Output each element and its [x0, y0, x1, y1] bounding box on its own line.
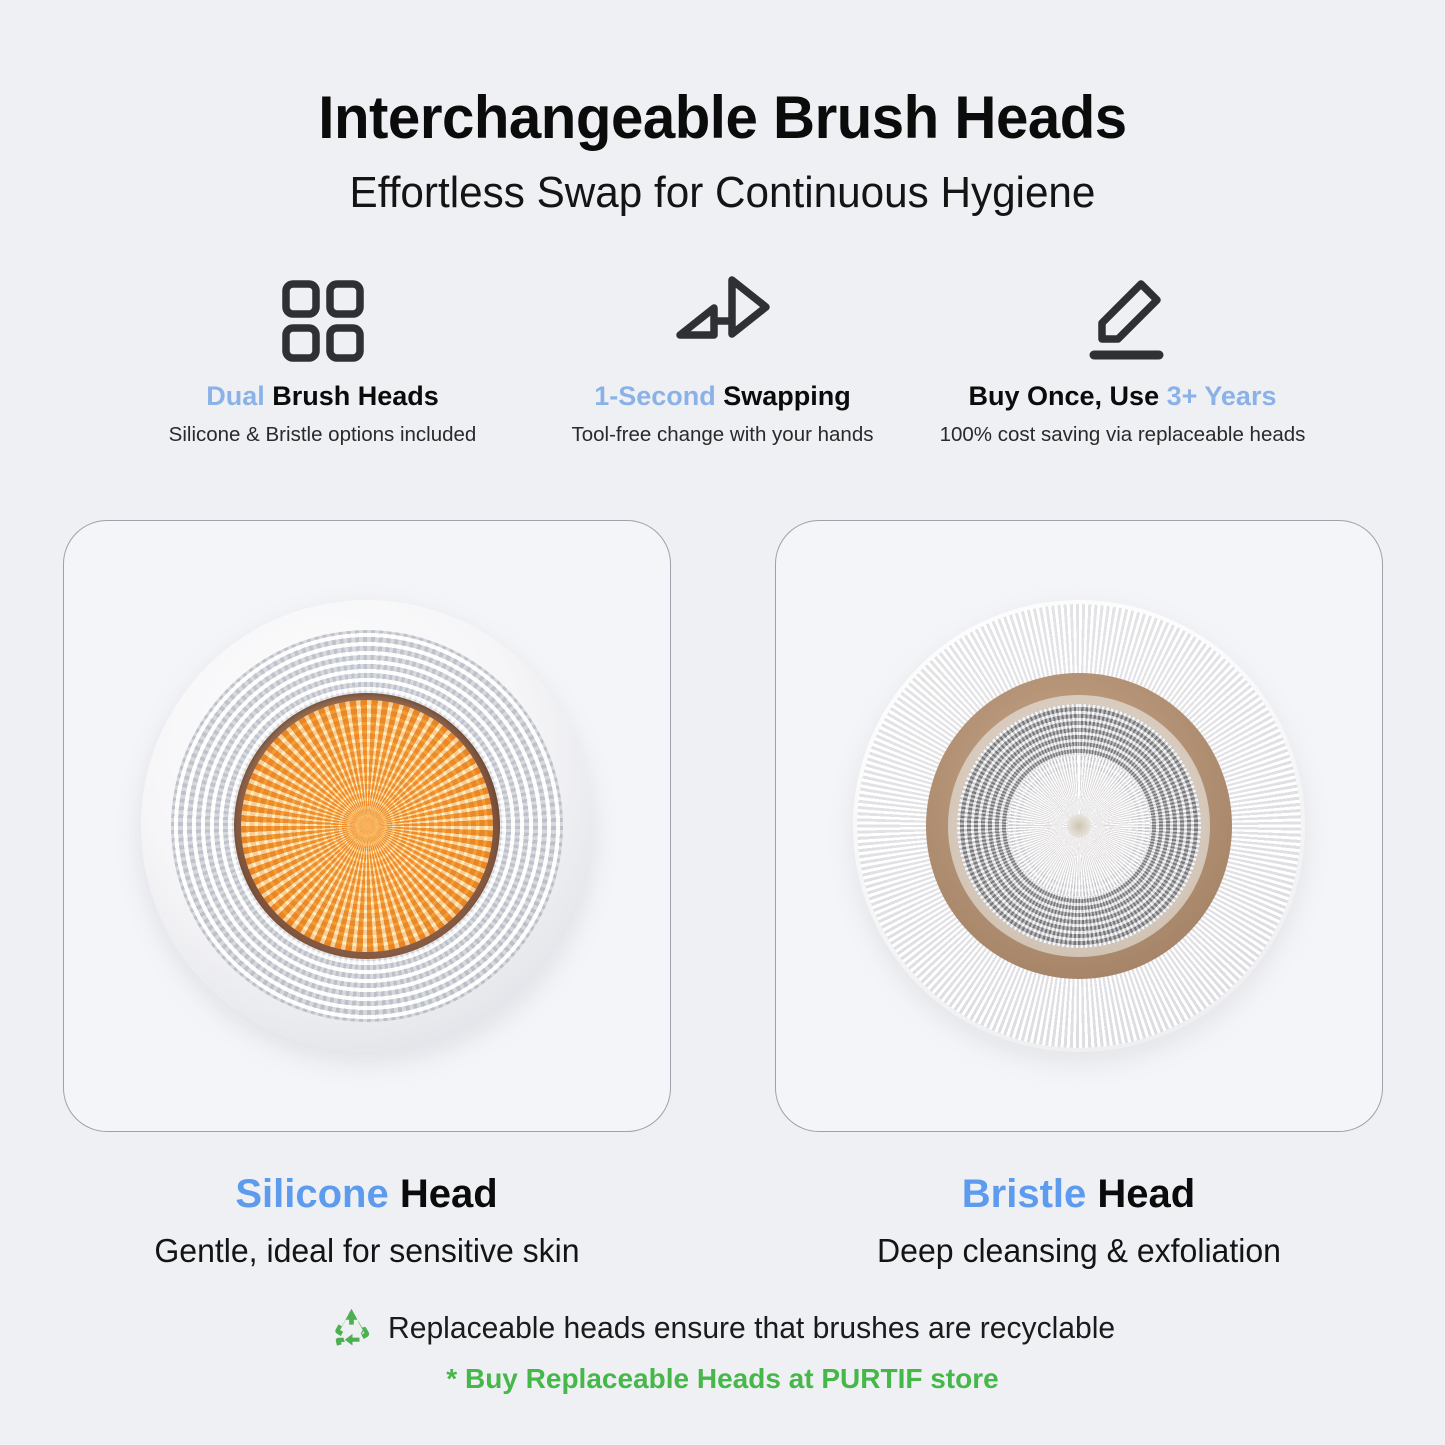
recycle-note-text: Replaceable heads ensure that brushes ar… [388, 1311, 1115, 1345]
silicone-inner-disc [241, 700, 493, 952]
feature-title: Dual Brush Heads [131, 381, 515, 412]
feature-buy-once-use-years: Buy Once, Use 3+ Years 100% cost saving … [923, 275, 1323, 448]
page-subtitle: Effortless Swap for Continuous Hygiene [29, 169, 1416, 217]
feature-row: Dual Brush Heads Silicone & Bristle opti… [0, 275, 1445, 448]
feature-title-accent: 1-Second [594, 381, 716, 411]
feature-title-accent: 3+ Years [1167, 381, 1277, 411]
feature-subtitle: Silicone & Bristle options included [131, 423, 515, 448]
infographic-page: Interchangeable Brush Heads Effortless S… [0, 0, 1445, 1445]
caption-subtitle: Deep cleansing & exfoliation [784, 1232, 1374, 1270]
caption-title: Bristle Head [775, 1172, 1383, 1216]
feature-subtitle: 100% cost saving via replaceable heads [931, 423, 1315, 448]
pencil-underline-icon [931, 275, 1315, 367]
recycle-note: Replaceable heads ensure that brushes ar… [22, 1306, 1424, 1350]
feature-title-rest: Swapping [716, 381, 851, 411]
feature-one-second-swapping: 1-Second Swapping Tool-free change with … [523, 275, 923, 448]
feature-title-accent: Dual [206, 381, 265, 411]
caption-title: Silicone Head [63, 1172, 671, 1216]
header: Interchangeable Brush Heads Effortless S… [0, 0, 1445, 217]
product-caption-silicone: Silicone Head Gentle, ideal for sensitiv… [63, 1172, 671, 1270]
caption-title-accent: Bristle [962, 1172, 1087, 1216]
feature-subtitle: Tool-free change with your hands [531, 423, 915, 448]
bristle-brush-head-photo [853, 600, 1305, 1052]
silicone-center-glow [344, 803, 390, 849]
caption-subtitle: Gentle, ideal for sensitive skin [72, 1232, 662, 1270]
bristle-center-dot [1067, 814, 1091, 838]
footer: Replaceable heads ensure that brushes ar… [0, 1306, 1445, 1395]
product-caption-row: Silicone Head Gentle, ideal for sensitiv… [0, 1172, 1445, 1270]
product-card-bristle[interactable] [775, 520, 1383, 1132]
product-card-row [0, 520, 1445, 1132]
feature-title-rest: Brush Heads [265, 381, 439, 411]
caption-title-rest: Head [389, 1172, 498, 1216]
caption-title-rest: Head [1086, 1172, 1195, 1216]
grid-four-squares-icon [131, 275, 515, 367]
page-title: Interchangeable Brush Heads [22, 86, 1424, 149]
swap-arrows-icon [531, 275, 915, 367]
feature-title: 1-Second Swapping [531, 381, 915, 412]
product-caption-bristle: Bristle Head Deep cleansing & exfoliatio… [775, 1172, 1383, 1270]
recycle-icon [330, 1306, 373, 1350]
feature-title-lead: Buy Once, Use [969, 381, 1167, 411]
feature-title: Buy Once, Use 3+ Years [931, 381, 1315, 412]
feature-dual-brush-heads: Dual Brush Heads Silicone & Bristle opti… [123, 275, 523, 448]
caption-title-accent: Silicone [235, 1172, 388, 1216]
silicone-brush-head-photo [141, 600, 593, 1052]
store-note: * Buy Replaceable Heads at PURTIF store [0, 1364, 1445, 1395]
product-card-silicone[interactable] [63, 520, 671, 1132]
